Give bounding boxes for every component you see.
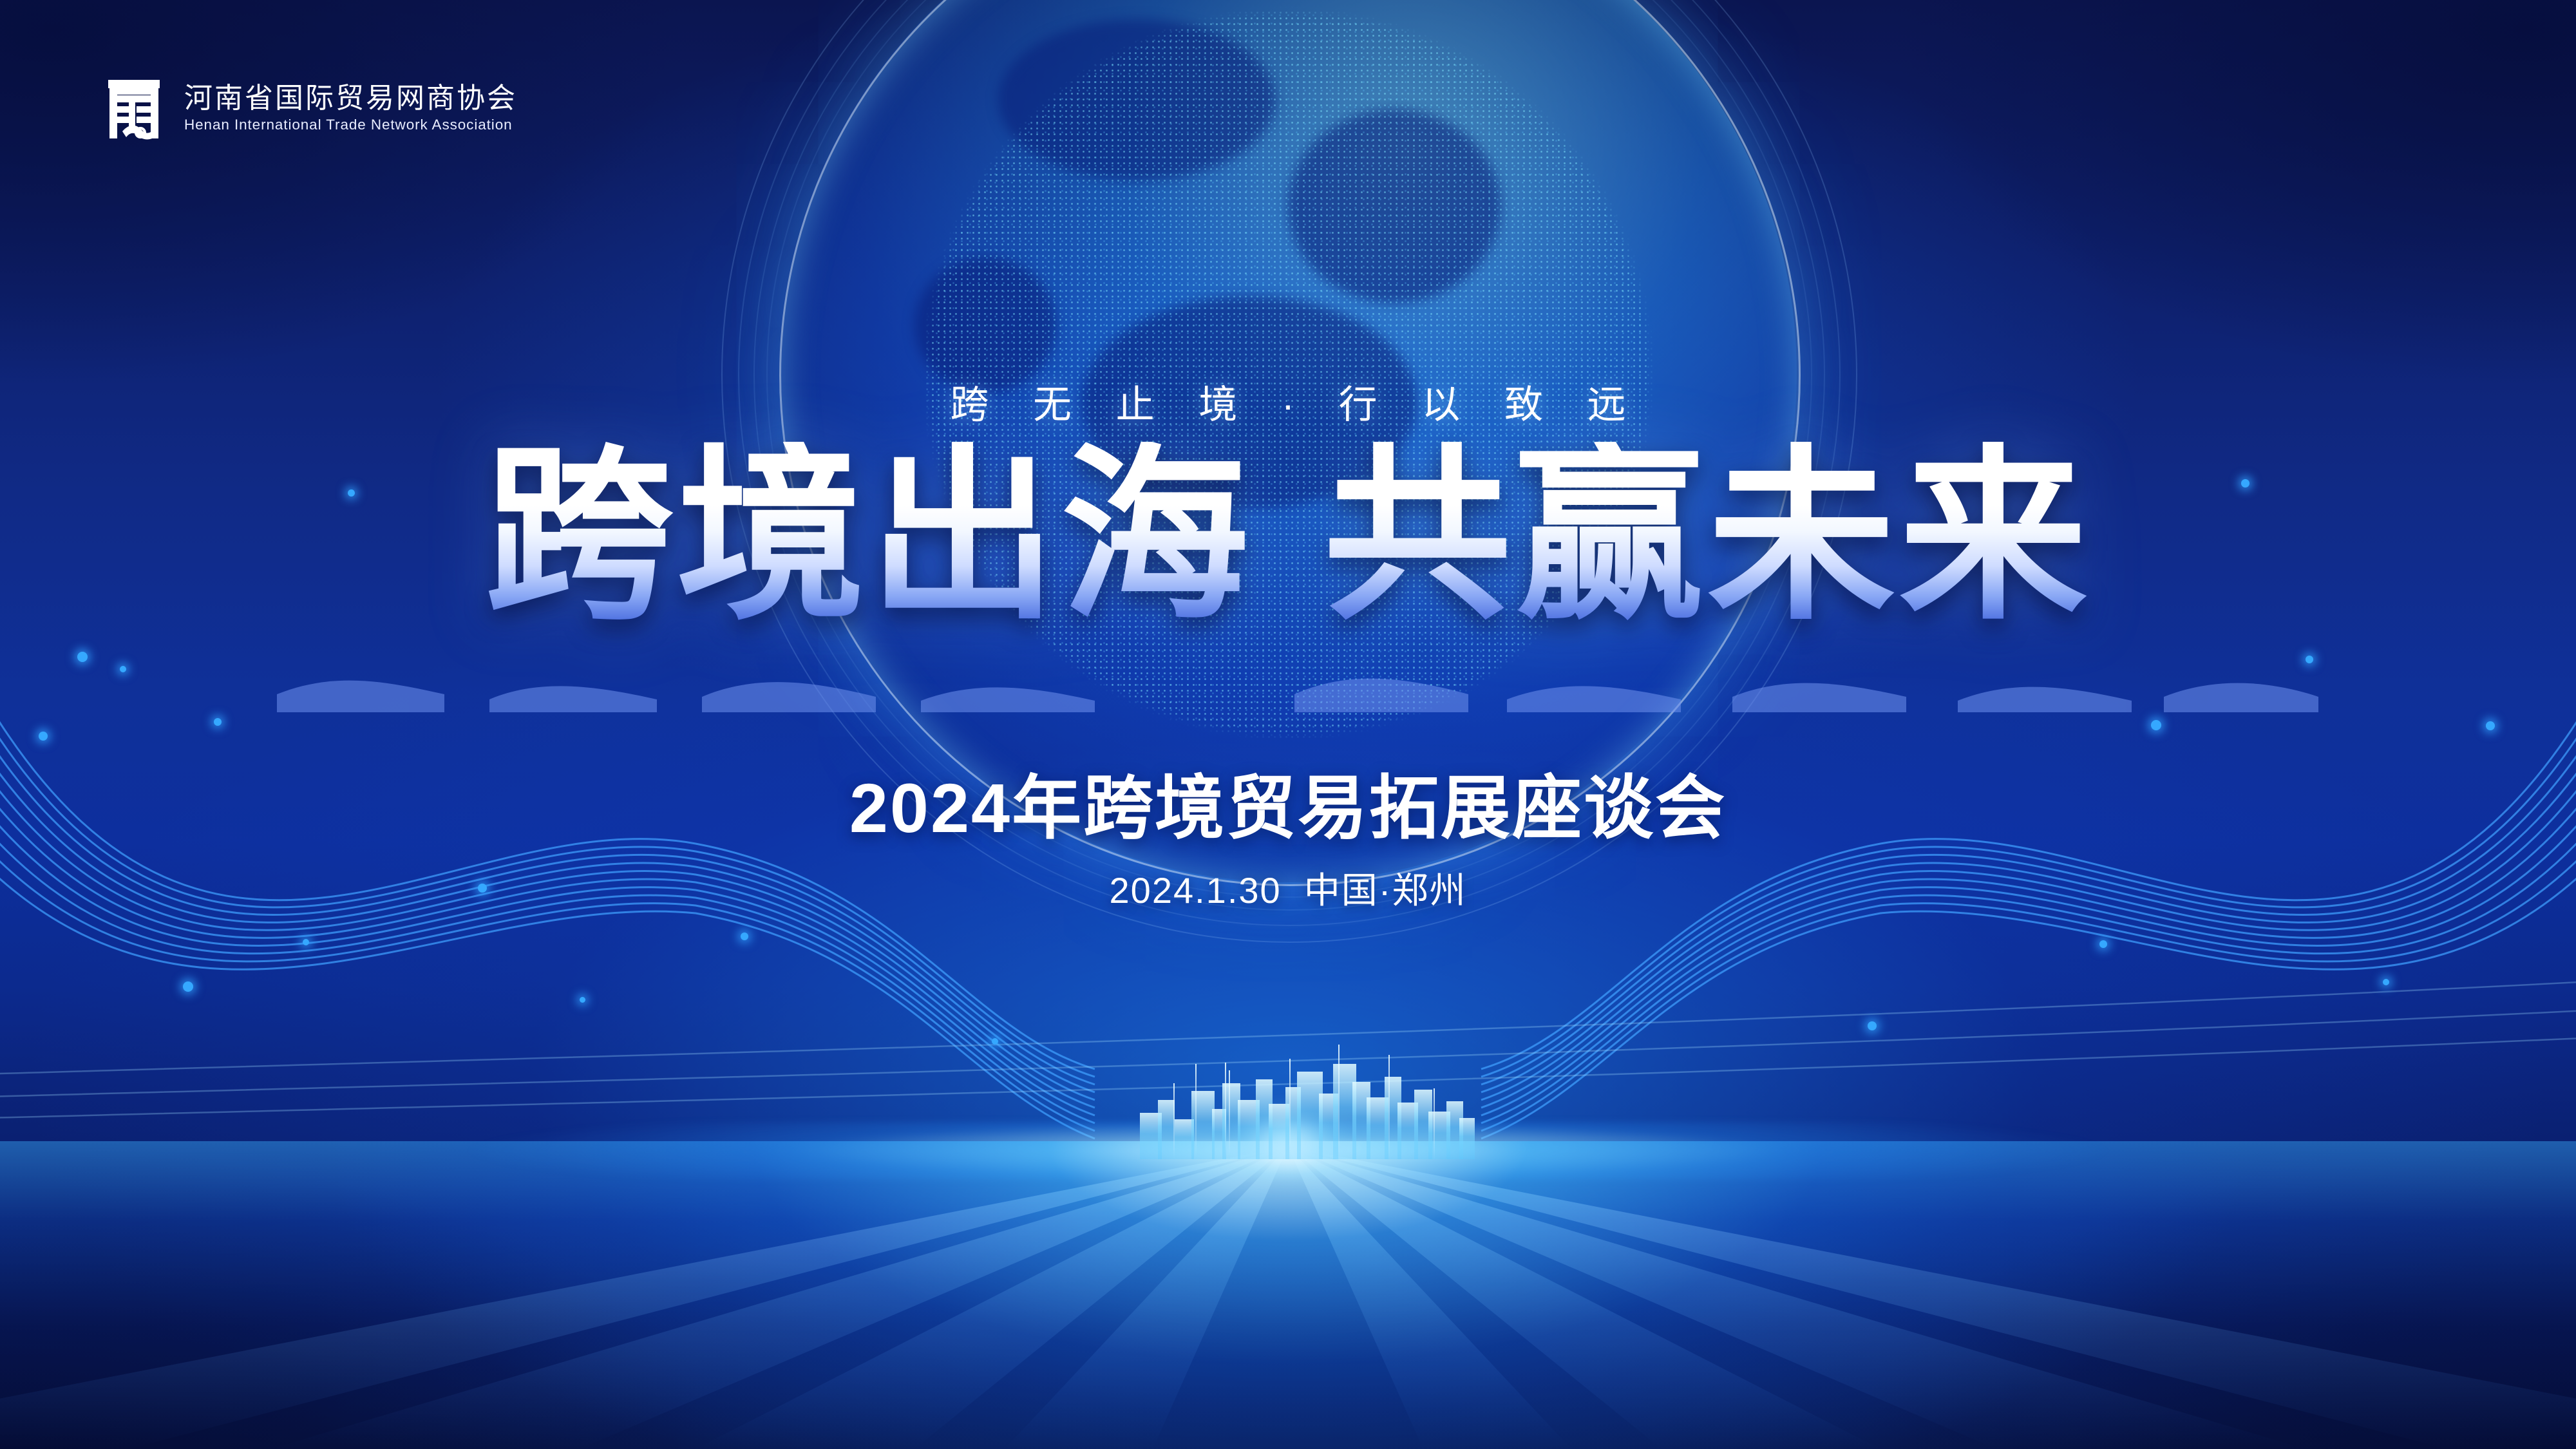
- logo-name-en: Henan International Trade Network Associ…: [184, 114, 517, 136]
- particle: [992, 1038, 998, 1045]
- particle: [2151, 720, 2161, 730]
- particle: [741, 933, 748, 940]
- page-title: 跨境出海共赢未来: [0, 442, 2576, 630]
- title-part-2: 共赢未来: [1323, 431, 2091, 641]
- particle: [2383, 979, 2389, 985]
- particle: [183, 981, 193, 992]
- event-banner: 河南省国际贸易网商协会 Henan International Trade Ne…: [0, 0, 2576, 1449]
- particle: [2099, 940, 2107, 948]
- city-skyline-icon: [1140, 1043, 1475, 1159]
- association-logo[interactable]: 河南省国际贸易网商协会 Henan International Trade Ne…: [103, 76, 517, 143]
- particle: [39, 732, 48, 741]
- particle: [580, 997, 585, 1003]
- event-subtitle: 2024年跨境贸易拓展座谈会: [0, 752, 2576, 853]
- particle: [2306, 656, 2313, 663]
- particle: [77, 652, 88, 662]
- event-tagline: 跨 无 止 境 · 行 以 致 远: [0, 374, 2576, 430]
- particle: [303, 939, 309, 945]
- particle: [1868, 1021, 1877, 1030]
- particle: [214, 718, 222, 726]
- seal-emblem-icon: [103, 76, 165, 143]
- particle: [120, 666, 126, 672]
- particle: [2486, 721, 2495, 730]
- title-part-1: 跨境出海: [485, 431, 1253, 641]
- logo-name-cn: 河南省国际贸易网商协会: [184, 83, 517, 114]
- event-meta: 2024.1.30 中国·郑州: [0, 862, 2576, 914]
- event-location: 中国·郑州: [1304, 870, 1467, 911]
- event-date: 2024.1.30: [1110, 870, 1282, 911]
